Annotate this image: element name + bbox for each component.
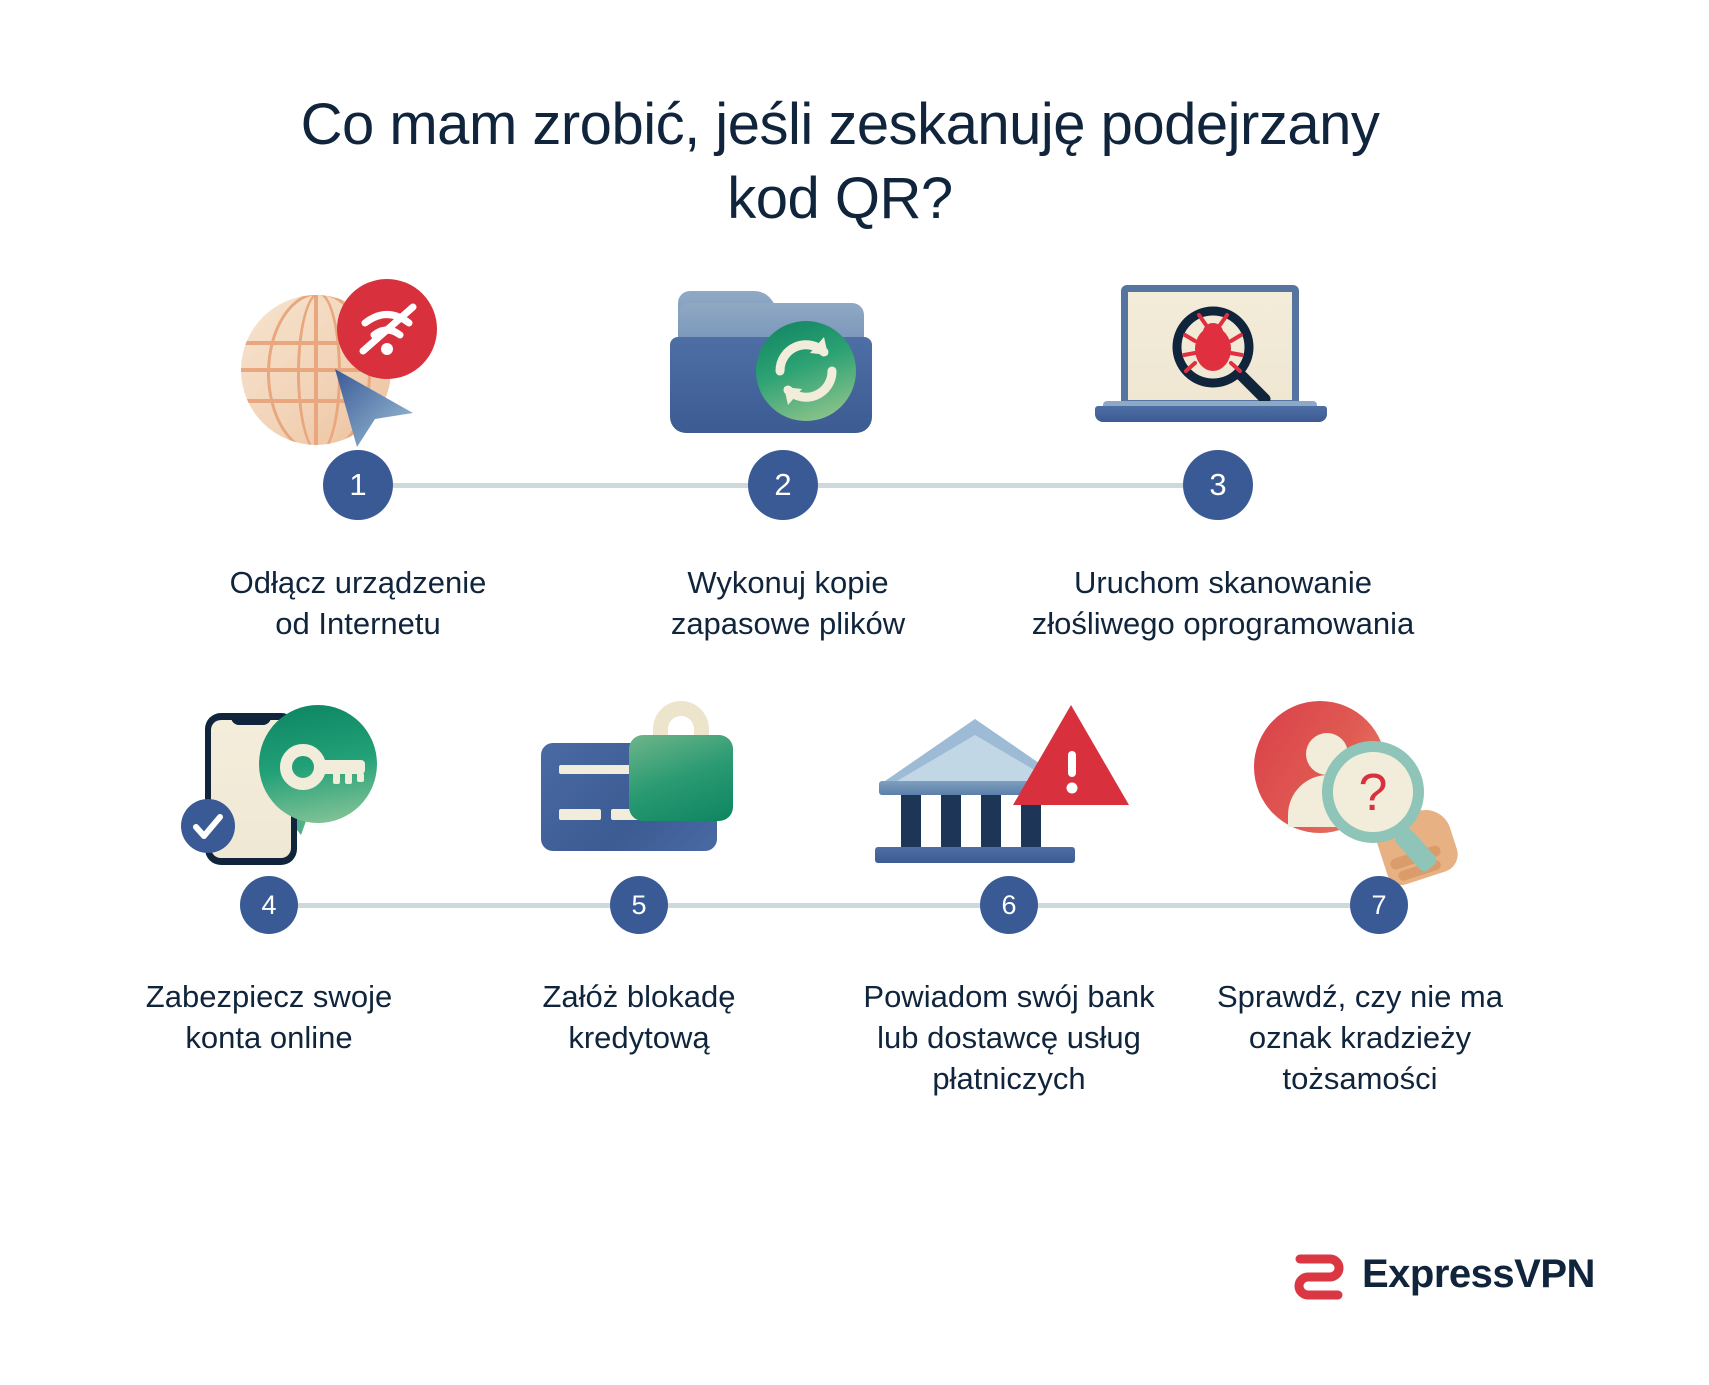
- no-wifi-icon: [337, 279, 437, 379]
- step-7-caption: Sprawdź, czy nie ma oznak kradzieży tożs…: [1195, 976, 1525, 1100]
- step-3-caption-line-2: złośliwego oprogramowania: [1003, 603, 1443, 644]
- bank-column-1: [901, 795, 921, 851]
- step-4-icon-slot: [168, 690, 428, 870]
- connector-line-2-3: [818, 483, 1208, 488]
- expressvpn-logo[interactable]: ExpressVPN: [1290, 1245, 1595, 1303]
- page-title-line-1: Co mam zrobić, jeśli zeskanuję podejrzan…: [301, 92, 1380, 157]
- sync-refresh-icon: [756, 321, 856, 421]
- magnifier-question-icon: ?: [1322, 741, 1424, 843]
- step-7-caption-line-1: Sprawdź, czy nie ma: [1195, 976, 1525, 1017]
- step-6-caption-line-1: Powiadom swój bank: [838, 976, 1180, 1017]
- bank-alert-icon: [875, 695, 1125, 870]
- steps-row-1: 1 2 3 Odłącz urządzenie od Internetu Wyk…: [0, 270, 1709, 520]
- step-6-caption-line-2: lub dostawcę usług: [838, 1017, 1180, 1058]
- cursor-arrow-icon: [329, 367, 419, 454]
- infographic-canvas: Co mam zrobić, jeśli zeskanuję podejrzan…: [0, 0, 1709, 1385]
- row-2-icons: ?: [0, 690, 1709, 870]
- step-6-caption: Powiadom swój bank lub dostawcę usług pł…: [838, 976, 1180, 1100]
- folder-sync-icon: [660, 275, 910, 450]
- connector-line-5-6: [665, 903, 980, 908]
- checkmark-badge-icon: [181, 799, 235, 853]
- step-1-caption-line-2: od Internetu: [178, 603, 538, 644]
- step-4-caption-line-2: konta online: [108, 1017, 430, 1058]
- connector-line-1-2: [393, 483, 783, 488]
- step-2-icon-slot: [655, 270, 915, 450]
- step-1-caption-line-1: Odłącz urządzenie: [178, 562, 538, 603]
- row-1-icons: [0, 270, 1709, 450]
- key-bubble-icon: [259, 705, 377, 823]
- step-2-caption-line-2: zapasowe plików: [608, 603, 968, 644]
- logo-vpn-text: VPN: [1514, 1252, 1595, 1296]
- bank-column-2: [941, 795, 961, 851]
- identity-theft-magnifier-icon: ?: [1230, 695, 1480, 870]
- step-4-caption-line-1: Zabezpiecz swoje: [108, 976, 430, 1017]
- row-1-connector-track: 1 2 3: [0, 450, 1709, 520]
- step-1-caption: Odłącz urządzenie od Internetu: [178, 562, 538, 644]
- bank-column-3: [981, 795, 1001, 851]
- credit-card-lock-icon: [525, 695, 775, 870]
- step-badge-1[interactable]: 1: [323, 450, 393, 520]
- padlock-body-icon: [629, 735, 733, 821]
- connector-line-6-7: [1035, 903, 1350, 908]
- logo-express-text: Express: [1362, 1252, 1514, 1296]
- step-badge-6[interactable]: 6: [980, 876, 1038, 934]
- step-1-icon-slot: [228, 270, 488, 450]
- step-5-caption-line-2: kredytową: [478, 1017, 800, 1058]
- step-7-caption-line-2: oznak kradzieży: [1195, 1017, 1525, 1058]
- laptop-malware-scan-icon: [1093, 275, 1343, 450]
- warning-exclamation: [1063, 751, 1081, 806]
- phone-key-secure-icon: [173, 695, 423, 870]
- step-badge-4[interactable]: 4: [240, 876, 298, 934]
- step-6-icon-slot: [870, 690, 1130, 870]
- step-2-caption: Wykonuj kopie zapasowe plików: [608, 562, 968, 644]
- connector-line-4-5: [295, 903, 610, 908]
- step-2-caption-line-1: Wykonuj kopie: [608, 562, 968, 603]
- laptop-base: [1095, 406, 1327, 422]
- magnifier-bug-icon: [1163, 301, 1283, 416]
- step-badge-5[interactable]: 5: [610, 876, 668, 934]
- step-3-icon-slot: [1088, 270, 1348, 450]
- step-badge-2[interactable]: 2: [748, 450, 818, 520]
- step-badge-7[interactable]: 7: [1350, 876, 1408, 934]
- step-7-caption-line-3: tożsamości: [1195, 1058, 1525, 1099]
- steps-row-2: ? 4 5 6 7 Zabezpiecz swoje konta online …: [0, 690, 1709, 940]
- step-5-caption-line-1: Załóż blokadę: [478, 976, 800, 1017]
- expressvpn-logo-mark: [1290, 1245, 1348, 1303]
- globe-no-wifi-cursor-icon: [233, 275, 483, 450]
- step-5-caption: Załóż blokadę kredytową: [478, 976, 800, 1058]
- step-7-icon-slot: ?: [1225, 690, 1485, 870]
- bank-base: [875, 847, 1075, 863]
- step-6-caption-line-3: płatniczych: [838, 1058, 1180, 1099]
- step-badge-3[interactable]: 3: [1183, 450, 1253, 520]
- page-title-line-2: kod QR?: [727, 166, 952, 231]
- step-3-caption: Uruchom skanowanie złośliwego oprogramow…: [1003, 562, 1443, 644]
- row-2-connector-track: 4 5 6 7: [0, 870, 1709, 940]
- step-4-caption: Zabezpiecz swoje konta online: [108, 976, 430, 1058]
- page-title: Co mam zrobić, jeśli zeskanuję podejrzan…: [180, 88, 1500, 236]
- step-5-icon-slot: [520, 690, 780, 870]
- expressvpn-logo-text: ExpressVPN: [1362, 1252, 1595, 1297]
- step-3-caption-line-1: Uruchom skanowanie: [1003, 562, 1443, 603]
- svg-text:?: ?: [1359, 764, 1388, 822]
